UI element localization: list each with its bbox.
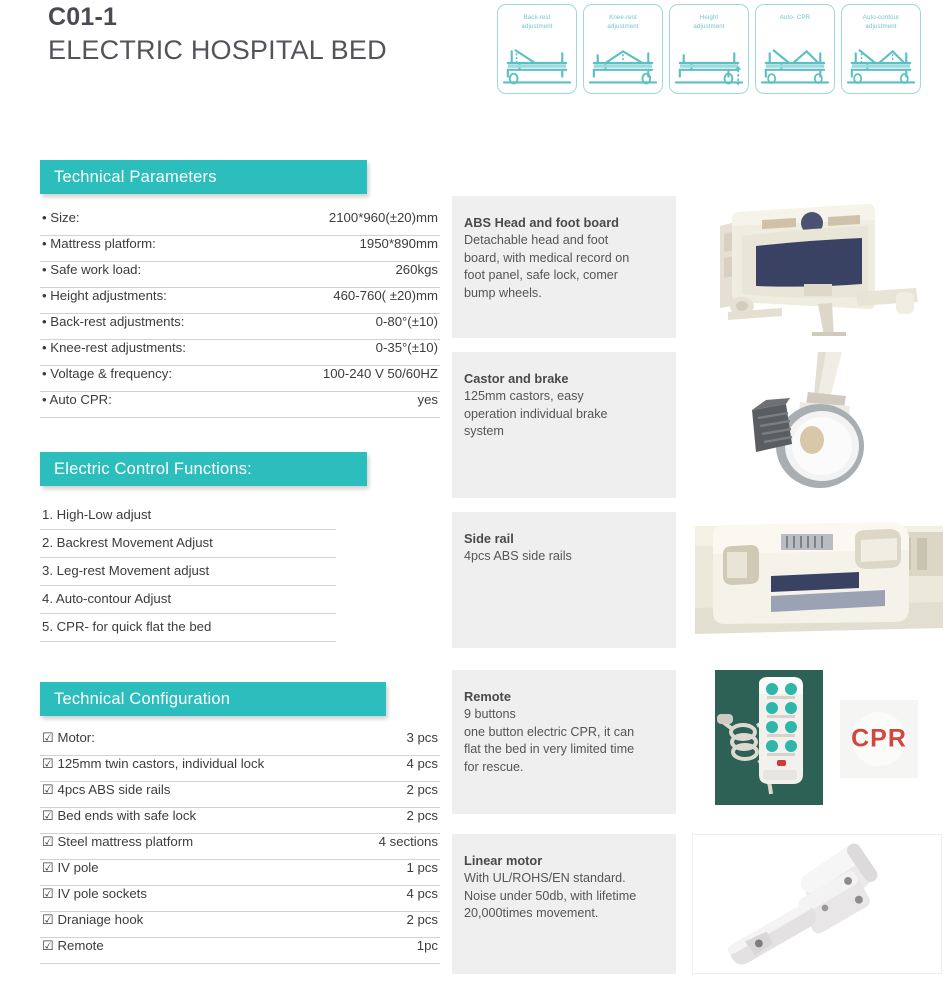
feature-icon-card-height: Heightadjustment bbox=[669, 4, 749, 94]
feature-title: Castor and brake bbox=[464, 370, 662, 387]
product-photo-side-rail bbox=[695, 512, 943, 648]
function-item: 5. CPR- for quick flat the bed bbox=[40, 614, 336, 642]
page-header: C01-1 ELECTRIC HOSPITAL BED Back-restadj… bbox=[0, 0, 945, 108]
config-value: 4 pcs bbox=[406, 886, 438, 901]
feature-description: Detachable head and foot board, with med… bbox=[464, 232, 662, 302]
config-label: ☑ 4pcs ABS side rails bbox=[42, 782, 170, 798]
spec-label: • Back-rest adjustments: bbox=[42, 314, 184, 329]
feature-icon-label: Knee-restadjustment bbox=[584, 14, 662, 31]
spec-value: 0-80°(±10) bbox=[376, 314, 438, 329]
knee-rest-adjustment-icon bbox=[588, 39, 658, 87]
config-row: ☑ IV pole sockets 4 pcs bbox=[40, 886, 440, 912]
spec-value: 260kgs bbox=[395, 262, 438, 277]
spec-row: • Knee-rest adjustments: 0-35°(±10) bbox=[40, 340, 440, 366]
technical-parameters-list: • Size: 2100*960(±20)mm • Mattress platf… bbox=[40, 210, 440, 418]
config-label: ☑ Bed ends with safe lock bbox=[42, 808, 196, 824]
config-value: 1 pcs bbox=[406, 860, 438, 875]
spec-value: yes bbox=[417, 392, 438, 407]
config-value: 3 pcs bbox=[406, 730, 438, 745]
feature-title: Remote bbox=[464, 688, 662, 705]
spec-value: 0-35°(±10) bbox=[376, 340, 438, 355]
spec-row: • Safe work load: 260kgs bbox=[40, 262, 440, 288]
spec-row: • Size: 2100*960(±20)mm bbox=[40, 210, 440, 236]
product-photo-remote bbox=[715, 670, 823, 805]
function-item: 3. Leg-rest Movement adjust bbox=[40, 558, 336, 586]
spec-label: • Mattress platform: bbox=[42, 236, 156, 251]
product-photo-head-and-foot-board bbox=[700, 196, 940, 338]
spec-value: 2100*960(±20)mm bbox=[329, 210, 438, 225]
feature-title: Linear motor bbox=[464, 852, 662, 869]
section-header-electric-control-functions: Electric Control Functions: bbox=[40, 452, 367, 486]
config-value: 1pc bbox=[417, 938, 438, 953]
left-column: Technical Parameters • Size: 2100*960(±2… bbox=[40, 160, 440, 964]
feature-description: With UL/ROHS/EN standard. Noise under 50… bbox=[464, 870, 662, 923]
config-value: 2 pcs bbox=[406, 782, 438, 797]
spec-label: • Height adjustments: bbox=[42, 288, 167, 303]
config-row: ☑ Remote 1pc bbox=[40, 938, 440, 964]
feature-description: 4pcs ABS side rails bbox=[464, 548, 662, 566]
feature-icon-label: Heightadjustment bbox=[670, 14, 748, 31]
spec-row: • Voltage & frequency: 100-240 V 50/60HZ bbox=[40, 366, 440, 392]
feature-description: 9 buttons one button electric CPR, it ca… bbox=[464, 706, 662, 776]
title-block: C01-1 ELECTRIC HOSPITAL BED bbox=[48, 2, 387, 68]
spec-value: 100-240 V 50/60HZ bbox=[323, 366, 438, 381]
feature-icon-label: Auto-contouradjustment bbox=[842, 14, 920, 31]
config-value: 4 sections bbox=[379, 834, 438, 849]
config-label: ☑ Remote bbox=[42, 938, 104, 954]
feature-card-remote: Remote 9 buttons one button electric CPR… bbox=[452, 670, 676, 814]
config-row: ☑ Motor: 3 pcs bbox=[40, 730, 440, 756]
spec-row: • Mattress platform: 1950*890mm bbox=[40, 236, 440, 262]
config-label: ☑ 125mm twin castors, individual lock bbox=[42, 756, 264, 772]
spec-label: • Knee-rest adjustments: bbox=[42, 340, 186, 355]
config-row: ☑ 125mm twin castors, individual lock 4 … bbox=[40, 756, 440, 782]
config-label: ☑ Draniage hook bbox=[42, 912, 143, 928]
product-photo-castor-and-brake bbox=[700, 352, 940, 498]
product-photo-cpr-badge: CPR bbox=[840, 700, 918, 778]
config-value: 2 pcs bbox=[406, 808, 438, 823]
feature-icon-card-auto-cpr: Auto- CPR bbox=[755, 4, 835, 94]
config-label: ☑ Steel mattress platform bbox=[42, 834, 193, 850]
config-row: ☑ Steel mattress platform 4 sections bbox=[40, 834, 440, 860]
function-item: 1. High-Low adjust bbox=[40, 502, 336, 530]
product-photo-linear-motor bbox=[692, 834, 942, 974]
feature-icon-card-auto-contour: Auto-contouradjustment bbox=[841, 4, 921, 94]
technical-configuration-list: ☑ Motor: 3 pcs ☑ 125mm twin castors, ind… bbox=[40, 730, 440, 964]
config-row: ☑ 4pcs ABS side rails 2 pcs bbox=[40, 782, 440, 808]
config-value: 4 pcs bbox=[406, 756, 438, 771]
config-value: 2 pcs bbox=[406, 912, 438, 927]
feature-card-abs-head-and-foot-board: ABS Head and foot board Detachable head … bbox=[452, 196, 676, 338]
height-adjustment-icon bbox=[674, 39, 744, 87]
spec-row: • Back-rest adjustments: 0-80°(±10) bbox=[40, 314, 440, 340]
spec-label: • Voltage & frequency: bbox=[42, 366, 172, 381]
feature-card-linear-motor: Linear motor With UL/ROHS/EN standard. N… bbox=[452, 834, 676, 974]
config-label: ☑ Motor: bbox=[42, 730, 95, 746]
config-row: ☑ Bed ends with safe lock 2 pcs bbox=[40, 808, 440, 834]
spec-label: • Safe work load: bbox=[42, 262, 141, 277]
electric-control-functions-list: 1. High-Low adjust 2. Backrest Movement … bbox=[40, 502, 440, 642]
feature-icon-card-knee-rest: Knee-restadjustment bbox=[583, 4, 663, 94]
feature-icon-strip: Back-restadjustment bbox=[497, 4, 921, 94]
section-header-technical-configuration: Technical Configuration bbox=[40, 682, 386, 716]
spec-value: 1950*890mm bbox=[360, 236, 438, 251]
config-label: ☑ IV pole bbox=[42, 860, 99, 876]
feature-title: ABS Head and foot board bbox=[464, 214, 662, 231]
spec-row: • Height adjustments: 460-760( ±20)mm bbox=[40, 288, 440, 314]
section-header-technical-parameters: Technical Parameters bbox=[40, 160, 367, 194]
config-row: ☑ IV pole 1 pcs bbox=[40, 860, 440, 886]
back-rest-adjustment-icon bbox=[502, 39, 572, 87]
config-row: ☑ Draniage hook 2 pcs bbox=[40, 912, 440, 938]
page-title: ELECTRIC HOSPITAL BED bbox=[48, 32, 387, 68]
feature-card-castor-and-brake: Castor and brake 125mm castors, easy ope… bbox=[452, 352, 676, 498]
spec-value: 460-760( ±20)mm bbox=[333, 288, 438, 303]
auto-contour-adjustment-icon bbox=[846, 39, 916, 87]
feature-icon-card-back-rest: Back-restadjustment bbox=[497, 4, 577, 94]
auto-cpr-icon bbox=[760, 39, 830, 87]
feature-description: 125mm castors, easy operation individual… bbox=[464, 388, 662, 441]
cpr-badge-label: CPR bbox=[840, 725, 918, 754]
spec-label: • Size: bbox=[42, 210, 80, 225]
spec-label: • Auto CPR: bbox=[42, 392, 112, 407]
spec-row: • Auto CPR: yes bbox=[40, 392, 440, 418]
model-code: C01-1 bbox=[48, 2, 387, 32]
feature-title: Side rail bbox=[464, 530, 662, 547]
feature-icon-label: Back-restadjustment bbox=[498, 14, 576, 31]
function-item: 2. Backrest Movement Adjust bbox=[40, 530, 336, 558]
feature-card-side-rail: Side rail 4pcs ABS side rails bbox=[452, 512, 676, 648]
function-item: 4. Auto-contour Adjust bbox=[40, 586, 336, 614]
feature-icon-label: Auto- CPR bbox=[756, 14, 834, 23]
config-label: ☑ IV pole sockets bbox=[42, 886, 147, 902]
